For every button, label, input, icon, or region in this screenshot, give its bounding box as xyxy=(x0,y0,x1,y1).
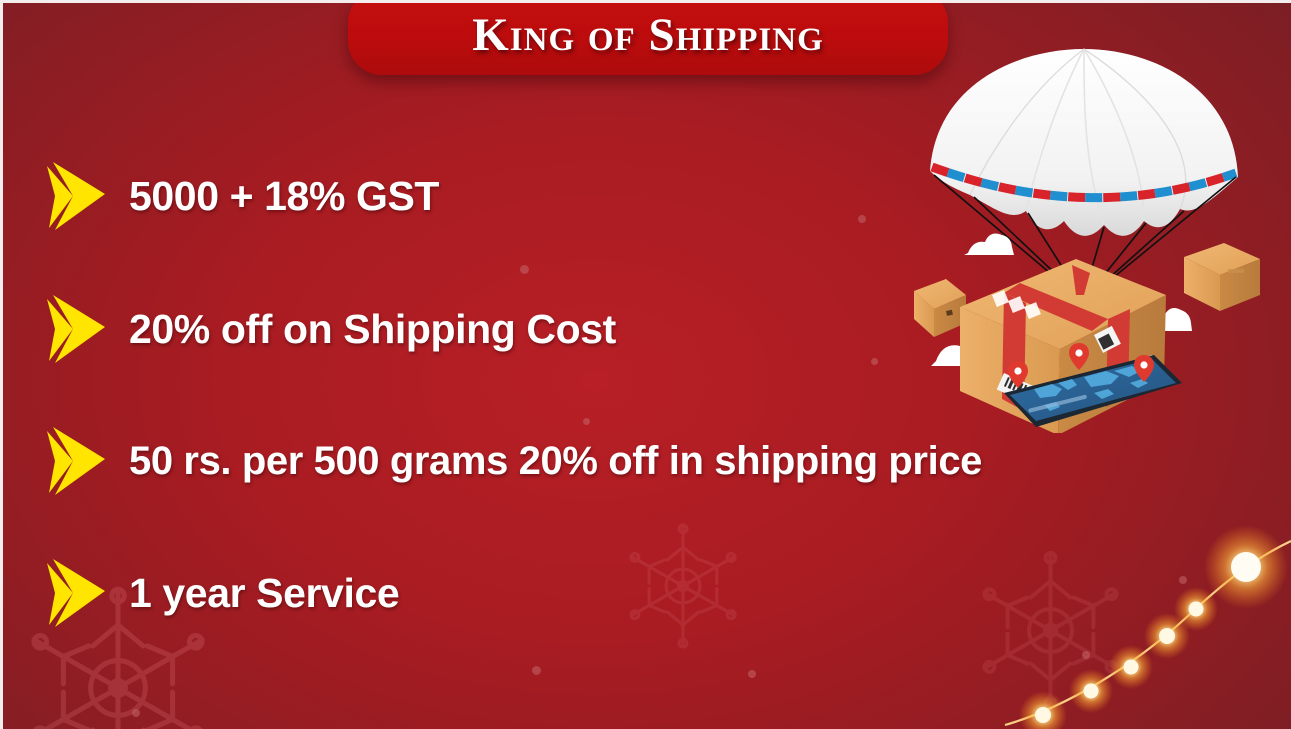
map-pin-icon xyxy=(1134,355,1154,382)
cloud-icon xyxy=(931,334,1001,366)
smartphone-world-map-icon xyxy=(1004,343,1182,427)
fairy-light-bulb xyxy=(1109,645,1153,689)
snowflake-icon xyxy=(618,521,748,651)
offer-label: 20% off on Shipping Cost xyxy=(129,306,616,353)
fairy-light-bulb xyxy=(1174,587,1218,631)
offer-row: 20% off on Shipping Cost xyxy=(43,291,616,367)
barcode-label xyxy=(997,373,1045,407)
double-chevron-arrow-icon xyxy=(43,158,117,234)
airmail-stripe-band xyxy=(932,167,1236,198)
offer-label: 50 rs. per 500 grams 20% off in shipping… xyxy=(129,439,982,484)
cloud-icon xyxy=(964,234,1014,255)
decorative-dot xyxy=(858,215,866,223)
parachute-cords xyxy=(934,175,1236,295)
double-chevron-arrow-icon xyxy=(43,291,117,367)
decorative-dot xyxy=(520,265,529,274)
qr-code-label xyxy=(1094,326,1121,353)
fairy-light-bulb xyxy=(1019,691,1067,729)
offer-label: 1 year Service xyxy=(129,570,399,617)
decorative-dot xyxy=(132,709,140,717)
decorative-dot xyxy=(1082,651,1090,659)
offer-row: 1 year Service xyxy=(43,555,399,631)
decorative-dot xyxy=(748,670,756,678)
double-chevron-arrow-icon xyxy=(43,423,117,499)
parachute-delivery-illustration xyxy=(908,43,1268,433)
fairy-light-bulb xyxy=(1144,613,1190,659)
snowflake-icon xyxy=(968,548,1133,713)
cloud-icon xyxy=(1142,308,1192,331)
handling-symbols-label xyxy=(992,290,1041,319)
offer-label: 5000 + 18% GST xyxy=(129,173,439,220)
decorative-dot xyxy=(871,358,878,365)
fairy-light-bulb xyxy=(1204,525,1288,609)
cardboard-box-icon xyxy=(960,259,1166,433)
title-banner: King of Shipping xyxy=(348,0,948,75)
cord-connector xyxy=(1075,293,1089,303)
offer-row: 50 rs. per 500 grams 20% off in shipping… xyxy=(43,423,982,499)
fairy-lights-icon xyxy=(991,519,1291,729)
small-box-left-icon xyxy=(914,279,966,337)
parachute-canopy xyxy=(930,49,1238,236)
decorative-dot xyxy=(985,178,992,185)
decorative-dot xyxy=(532,666,541,675)
double-chevron-arrow-icon xyxy=(43,555,117,631)
fairy-light-bulb xyxy=(1069,669,1113,713)
offer-row: 5000 + 18% GST xyxy=(43,158,439,234)
map-pin-icon xyxy=(1069,343,1089,370)
small-box-right-icon xyxy=(1184,243,1260,311)
promotional-banner: King of Shipping 5000 + 18% GST 20% off … xyxy=(0,0,1291,729)
page-title: King of Shipping xyxy=(472,2,824,62)
map-pin-icon xyxy=(1008,361,1028,388)
decorative-dot xyxy=(1179,576,1187,584)
stamp-label xyxy=(1132,355,1157,375)
